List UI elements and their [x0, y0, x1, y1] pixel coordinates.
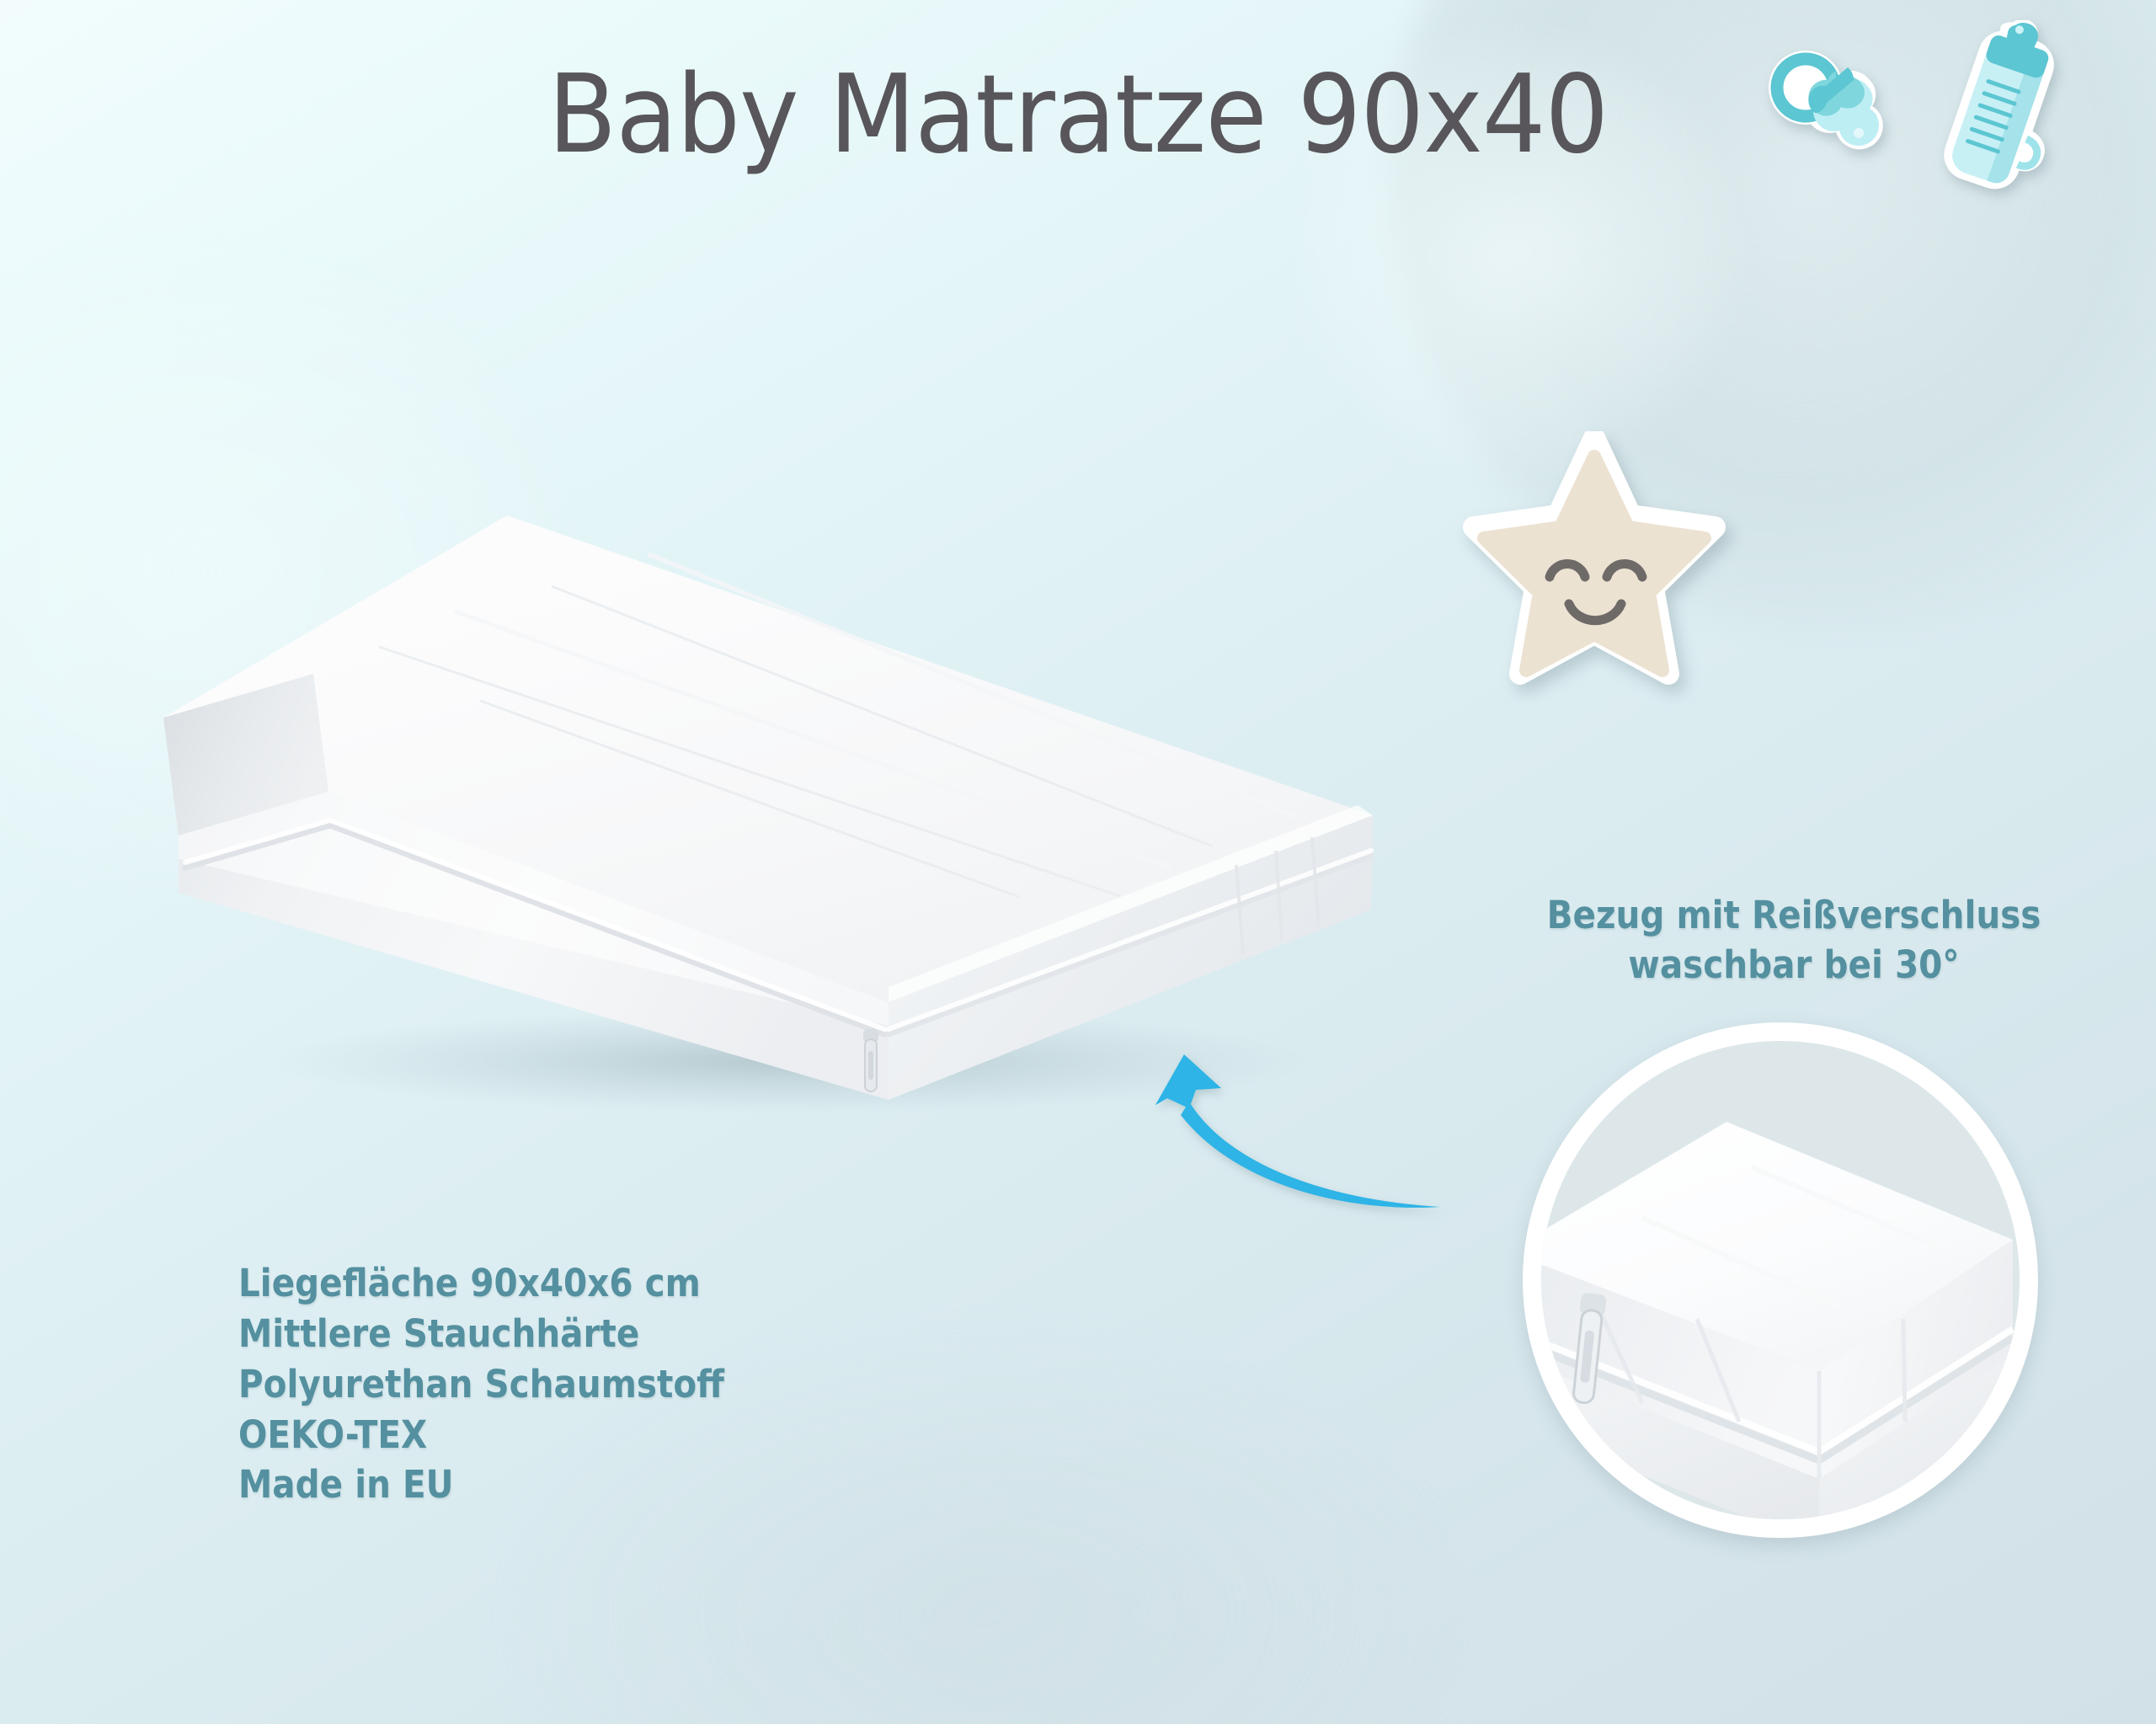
zipper-corner-closeup-image — [1541, 1041, 2020, 1519]
baby-mattress-photo — [126, 421, 1415, 1120]
feature-item: OEKO-TEX — [238, 1410, 724, 1460]
zipper-caption-line-1: Bezug mit Reißverschluss — [1536, 891, 2052, 941]
zipper-caption-line-2: waschbar bei 30° — [1536, 941, 2052, 990]
product-infographic: Baby Matratze 90x40 — [0, 0, 2156, 1724]
feature-list: Liegefläche 90x40x6 cm Mittlere Stauchhä… — [238, 1258, 778, 1510]
feature-item: Polyurethan Schaumstoff — [238, 1359, 724, 1410]
smiling-star-icon — [1455, 431, 1733, 709]
zipper-caption: Bezug mit Reißverschluss waschbar bei 30… — [1536, 891, 2052, 990]
feature-item: Made in EU — [238, 1460, 724, 1510]
curved-arrow-pointing-to-zipper — [1137, 1034, 1499, 1228]
decor-sticker-group — [1753, 20, 2090, 205]
zipper-corner-closeup — [1523, 1022, 2038, 1538]
pacifier-icon — [1753, 39, 1913, 203]
feature-item: Liegefläche 90x40x6 cm — [238, 1258, 724, 1309]
feature-item: Mittlere Stauchhärte — [238, 1309, 724, 1359]
baby-bottle-icon — [1932, 20, 2084, 205]
